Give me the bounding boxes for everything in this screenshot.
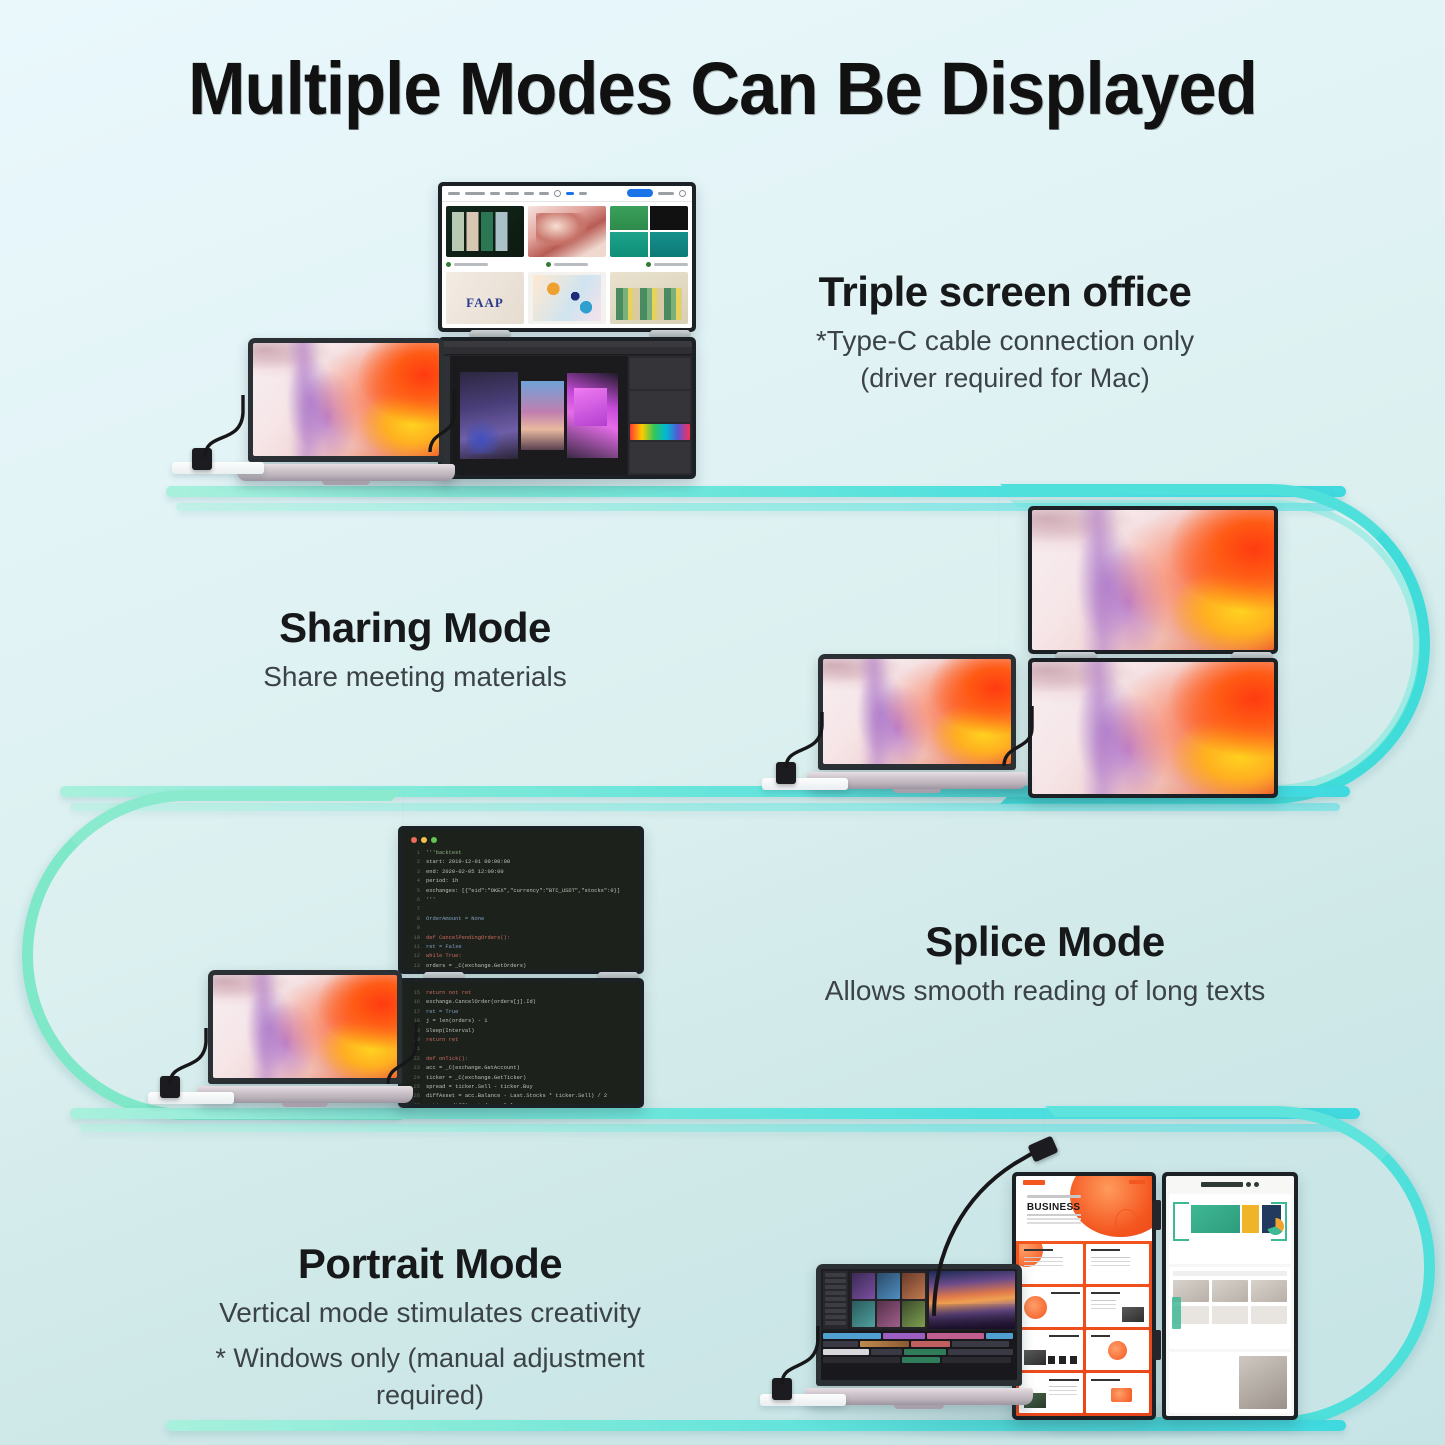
deck-slide[interactable] [1086,1373,1150,1413]
deck-slide[interactable] [1086,1287,1150,1327]
page-title: Multiple Modes Can Be Displayed [51,46,1395,131]
avatar[interactable] [679,190,686,197]
panel-stack[interactable] [627,356,692,475]
section-subtext-line-1: Share meeting materials [200,658,630,696]
code-line: 7 [408,905,634,914]
gallery-grid [442,202,692,328]
screen-wallpaper [823,659,1011,764]
section-text-sharing-mode: Sharing Mode Share meeting materials [200,604,630,696]
section-subtext-line-1: *Type-C cable connection only [760,322,1250,360]
code-lines: 1'''backtest2start: 2019-12-01 00:00:003… [408,849,634,970]
media-bin[interactable] [850,1271,927,1329]
nav-item[interactable] [448,192,460,195]
layout-hero-block[interactable] [1169,1194,1291,1264]
section-heading: Splice Mode [790,918,1300,966]
screen-code-editor-lower[interactable]: 15 return not ret16 exchange.CancelOrder… [402,982,640,1104]
deck-slide[interactable] [1086,1330,1150,1370]
canvas-artwork [521,381,565,450]
layout-article-block[interactable] [1169,1352,1291,1413]
meta-label [654,263,688,266]
code-line: 17 ret = True [408,1008,634,1017]
screen-wallpaper [1032,662,1274,794]
monitor-gallery [438,182,696,332]
usb-c-cable [162,1028,224,1090]
avatar [446,262,451,267]
section-heading: Sharing Mode [200,604,630,652]
section-text-triple-screen: Triple screen office *Type-C cable conne… [760,268,1250,397]
monitor-port-cover [1152,1200,1161,1230]
laptop-sharing [818,654,1016,794]
layout-listing-block[interactable] [1169,1267,1291,1349]
code-line: 6''' [408,896,634,905]
code-line: 20 return ret [408,1036,634,1045]
timeline-panel[interactable] [821,1331,1017,1380]
code-line: 23 acc = _C(exchange.GetAccount) [408,1064,634,1073]
avatar [646,262,651,267]
deck-slide[interactable] [1086,1244,1150,1284]
usb-c-cable-overhead [930,1138,1070,1318]
screen-wallpaper [253,343,439,456]
history-panel[interactable] [630,442,690,473]
color-picker[interactable] [630,424,690,440]
monitor-code-upper: 1'''backtest2start: 2019-12-01 00:00:003… [398,826,644,974]
deck-tag [1129,1180,1145,1185]
window-traffic-lights[interactable] [411,837,634,843]
code-line: 10def CancelPendingOrders(): [408,934,634,943]
section-subtext-line-2: (driver required for Mac) [760,360,1250,396]
gallery-meta-row [446,261,688,268]
avatar [546,262,551,267]
monitor-sharing-lower [1028,658,1278,798]
monitor-sharing-upper [1028,506,1278,654]
usb-c-cable [778,712,840,774]
meta-label [454,263,488,266]
code-line: 19 Sleep(Interval) [408,1027,634,1036]
gallery-card[interactable] [528,206,606,258]
laptop-splice [208,970,402,1108]
code-line: 8OrderAmount = None [408,915,634,924]
monitor-portrait-green [1162,1172,1298,1420]
screen-gallery-browser [442,186,692,328]
usb-c-cable [424,390,460,460]
section-subtext-line-1: Allows smooth reading of long texts [790,972,1300,1010]
code-line: 4period: 1h [408,877,634,886]
brand-logo [1169,1179,1291,1191]
gallery-card[interactable] [528,272,606,324]
section-subtext-line-2: * Windows only (manual adjustment requir… [160,1340,700,1413]
nav-item[interactable] [465,192,485,195]
code-line: 22def onTick(): [408,1055,634,1064]
section-subtext-line-1: Vertical mode stimulates creativity [160,1294,700,1332]
canvas-artwork [460,372,517,459]
gallery-card[interactable] [610,272,688,324]
code-line: 15 return not ret [408,989,634,998]
code-line: 27 ratio = diffAsset / acc.Balance [408,1102,634,1104]
gallery-card[interactable] [446,206,524,258]
code-line: 5exchanges: [{"eid":"OKEX","currency":"B… [408,887,634,896]
code-line: 18 j = len(orders) - 1 [408,1017,634,1026]
code-line: 21 [408,1045,634,1054]
code-line: 12 while True: [408,952,634,961]
code-line: 9 [408,924,634,933]
gallery-card-faap[interactable] [446,272,524,324]
screen-photo-editor [442,341,692,475]
layers-panel[interactable] [630,358,690,389]
screen-green-web-layout [1166,1176,1294,1416]
code-line: 2start: 2019-12-01 00:00:00 [408,858,634,867]
notification-icon[interactable] [566,192,574,195]
usb-c-cable [195,395,265,465]
donut-chart [1267,1218,1284,1235]
project-panel[interactable] [823,1271,848,1329]
section-text-splice-mode: Splice Mode Allows smooth reading of lon… [790,918,1300,1010]
screen-wallpaper [1032,510,1274,650]
code-line: 13 orders = _C(exchange.GetOrders) [408,962,634,970]
canvas-artwork [567,373,617,457]
gallery-card[interactable] [610,206,688,258]
usb-c-cable [774,1326,836,1390]
screen-code-editor-upper[interactable]: 1'''backtest2start: 2019-12-01 00:00:003… [402,830,640,970]
code-line: 1'''backtest [408,849,634,858]
code-line: 25 spread = ticker.Sell - ticker.Buy [408,1083,634,1092]
usb-c-cable [382,1022,422,1090]
primary-action-button[interactable] [627,189,653,197]
monitor-photo-editor [438,337,696,479]
code-line: 11 ret = False [408,943,634,952]
infographic-canvas: Multiple Modes Can Be Displayed [0,0,1445,1445]
cable-pad [762,778,848,790]
section-text-portrait-mode: Portrait Mode Vertical mode stimulates c… [160,1240,700,1413]
monitor-port-cover [1152,1330,1161,1360]
search-icon[interactable] [554,190,561,197]
laptop-triple [248,338,444,478]
nav-item[interactable] [505,192,519,195]
nav-item[interactable] [490,192,500,195]
code-line: 16 exchange.CancelOrder(orders[j].Id) [408,998,634,1007]
section-heading: Portrait Mode [160,1240,700,1288]
browser-nav-bar[interactable] [442,186,692,202]
section-heading: Triple screen office [760,268,1250,316]
code-line: 26 diffAsset = acc.Balance - Last.Stocks… [408,1092,634,1101]
decorative-blob [1070,1176,1152,1237]
meta-label [554,263,588,266]
editor-canvas[interactable] [451,356,627,475]
nav-item[interactable] [539,192,549,195]
usb-c-cable [998,706,1038,772]
app-options-bar[interactable] [442,347,692,355]
monitor-code-lower: 15 return not ret16 exchange.CancelOrder… [398,978,644,1108]
code-line: 24 ticker = _C(exchange.GetTicker) [408,1074,634,1083]
code-lines: 15 return not ret16 exchange.CancelOrder… [408,987,634,1104]
nav-item[interactable] [658,192,674,195]
code-line: 3end: 2020-02-05 12:00:00 [408,868,634,877]
nav-item[interactable] [579,192,587,195]
deck-slide[interactable] [1019,1330,1083,1370]
screen-wallpaper [213,975,397,1078]
adjustments-panel[interactable] [630,391,690,422]
nav-item[interactable] [524,192,534,195]
